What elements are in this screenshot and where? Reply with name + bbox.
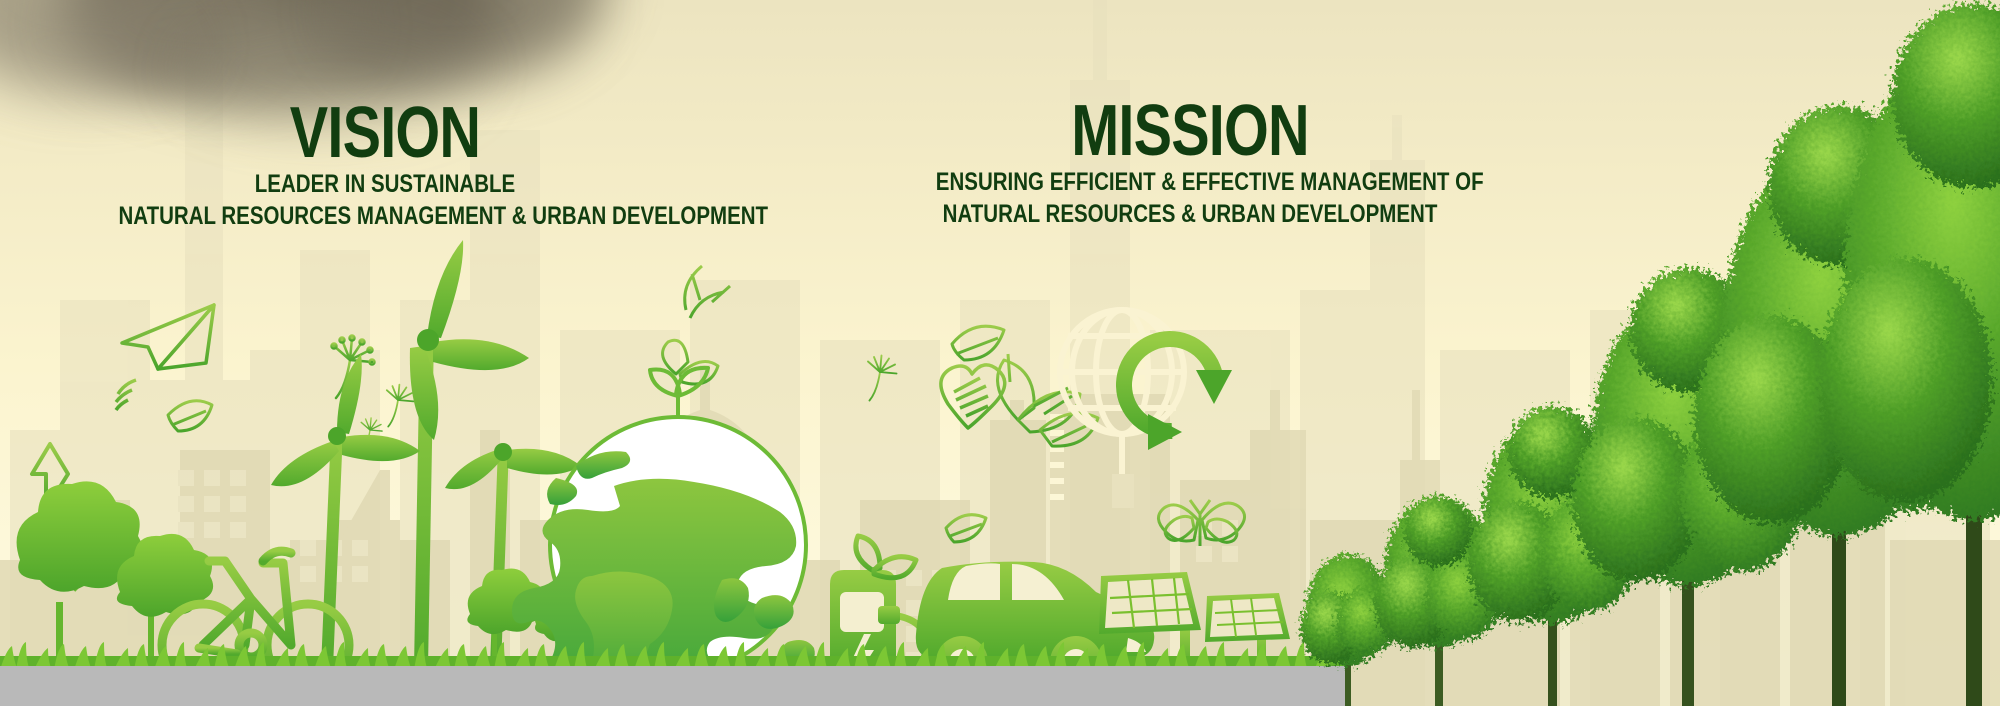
vision-line-2: NATURAL RESOURCES MANAGEMENT & URBAN DEV… [119,200,652,233]
vision-title: VISION [125,100,645,168]
vision-text-block: VISION LEADER IN SUSTAINABLE NATURAL RES… [60,100,710,233]
mission-text-block: MISSION ENSURING EFFICIENT & EFFECTIVE M… [880,98,1500,231]
mission-line-1: ENSURING EFFICIENT & EFFECTIVE MANAGEMEN… [936,166,1444,199]
vision-line-1: LEADER IN SUSTAINABLE [119,168,652,201]
mission-title: MISSION [942,98,1438,166]
mission-line-2: NATURAL RESOURCES & URBAN DEVELOPMENT [936,198,1444,231]
eco-vision-mission-banner: VISION LEADER IN SUSTAINABLE NATURAL RES… [0,0,2000,706]
